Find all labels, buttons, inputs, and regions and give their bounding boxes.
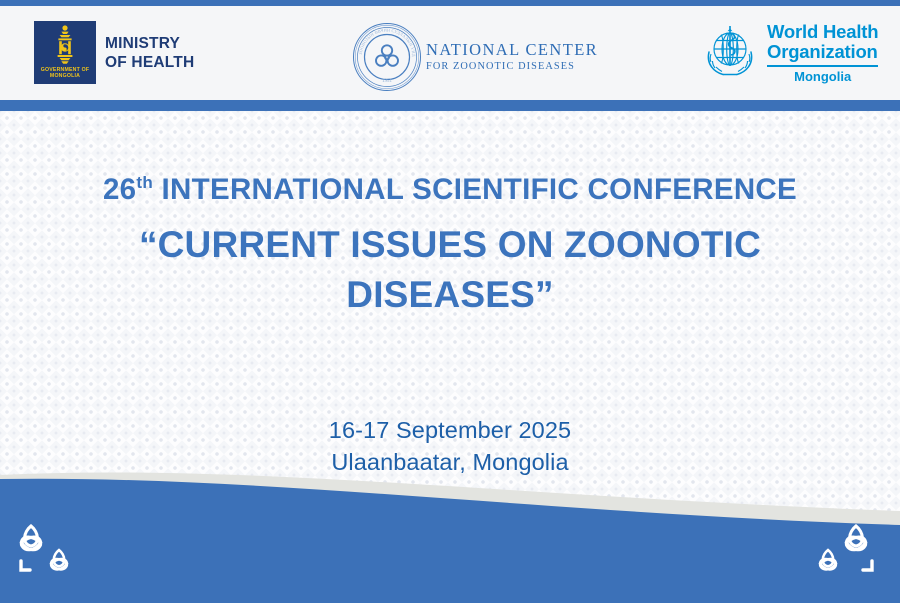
- conference-heading: 26th INTERNATIONAL SCIENTIFIC CONFERENCE: [0, 172, 900, 208]
- conference-heading-text: INTERNATIONAL SCIENTIFIC CONFERENCE: [153, 173, 797, 206]
- who-emblem-icon: [700, 20, 760, 80]
- nczd-seal-icon: ЗООНОЗЫН ӨВЧИН СУДЛАЛЫН ҮНДЭСНИЙ ТӨВ 195…: [352, 22, 422, 92]
- conference-ordinal: th: [136, 173, 153, 192]
- footer-wave-graphic: [0, 453, 900, 603]
- who-line-1: World Health: [767, 22, 878, 42]
- seal-year: 1951: [382, 79, 393, 84]
- theme-line-1: “CURRENT ISSUES ON ZOONOTIC: [139, 224, 761, 265]
- emblem-line-2: MONGOLIA: [34, 73, 96, 79]
- conference-title-slide: GOVERNMENT OF MONGOLIA MINISTRY OF HEALT…: [0, 0, 900, 603]
- national-center-zoonotic-diseases-logo: ЗООНОЗЫН ӨВЧИН СУДЛАЛЫН ҮНДЭСНИЙ ТӨВ 195…: [352, 22, 598, 92]
- triquetra-ornament-left: [14, 519, 88, 581]
- nczd-line-2: FOR ZOONOTIC DISEASES: [426, 62, 598, 72]
- nczd-line-1: NATIONAL CENTER: [426, 42, 598, 59]
- who-line-2: Organization: [767, 42, 878, 62]
- svg-text:ЗООНОЗЫН ӨВЧИН СУДЛАЛЫН ҮНДЭСН: ЗООНОЗЫН ӨВЧИН СУДЛАЛЫН ҮНДЭСНИЙ ТӨВ: [352, 22, 417, 57]
- conference-theme: “CURRENT ISSUES ON ZOONOTIC DISEASES”: [0, 220, 900, 320]
- title-block: 26th INTERNATIONAL SCIENTIFIC CONFERENCE…: [0, 172, 900, 320]
- ministry-name-line-2: OF HEALTH: [105, 53, 194, 72]
- mongolia-government-emblem: GOVERNMENT OF MONGOLIA: [34, 21, 96, 84]
- triquetra-ornament-right: [806, 519, 880, 581]
- soyombo-icon: [50, 24, 80, 66]
- header-divider-bar: [0, 100, 900, 111]
- nczd-wordmark: NATIONAL CENTER FOR ZOONOTIC DISEASES: [426, 42, 598, 73]
- who-mongolia-logo: World Health Organization Mongolia: [700, 20, 878, 84]
- wave-shapes: [0, 453, 900, 603]
- who-country: Mongolia: [767, 70, 878, 84]
- conference-number: 26: [103, 173, 136, 206]
- ministry-name: MINISTRY OF HEALTH: [105, 34, 194, 72]
- event-date: 16-17 September 2025: [0, 414, 900, 446]
- ministry-name-line-1: MINISTRY: [105, 34, 194, 53]
- who-wordmark: World Health Organization Mongolia: [767, 20, 878, 84]
- ministry-of-health-logo: GOVERNMENT OF MONGOLIA MINISTRY OF HEALT…: [34, 21, 194, 84]
- who-divider: [767, 65, 878, 67]
- theme-line-2: DISEASES”: [0, 270, 900, 320]
